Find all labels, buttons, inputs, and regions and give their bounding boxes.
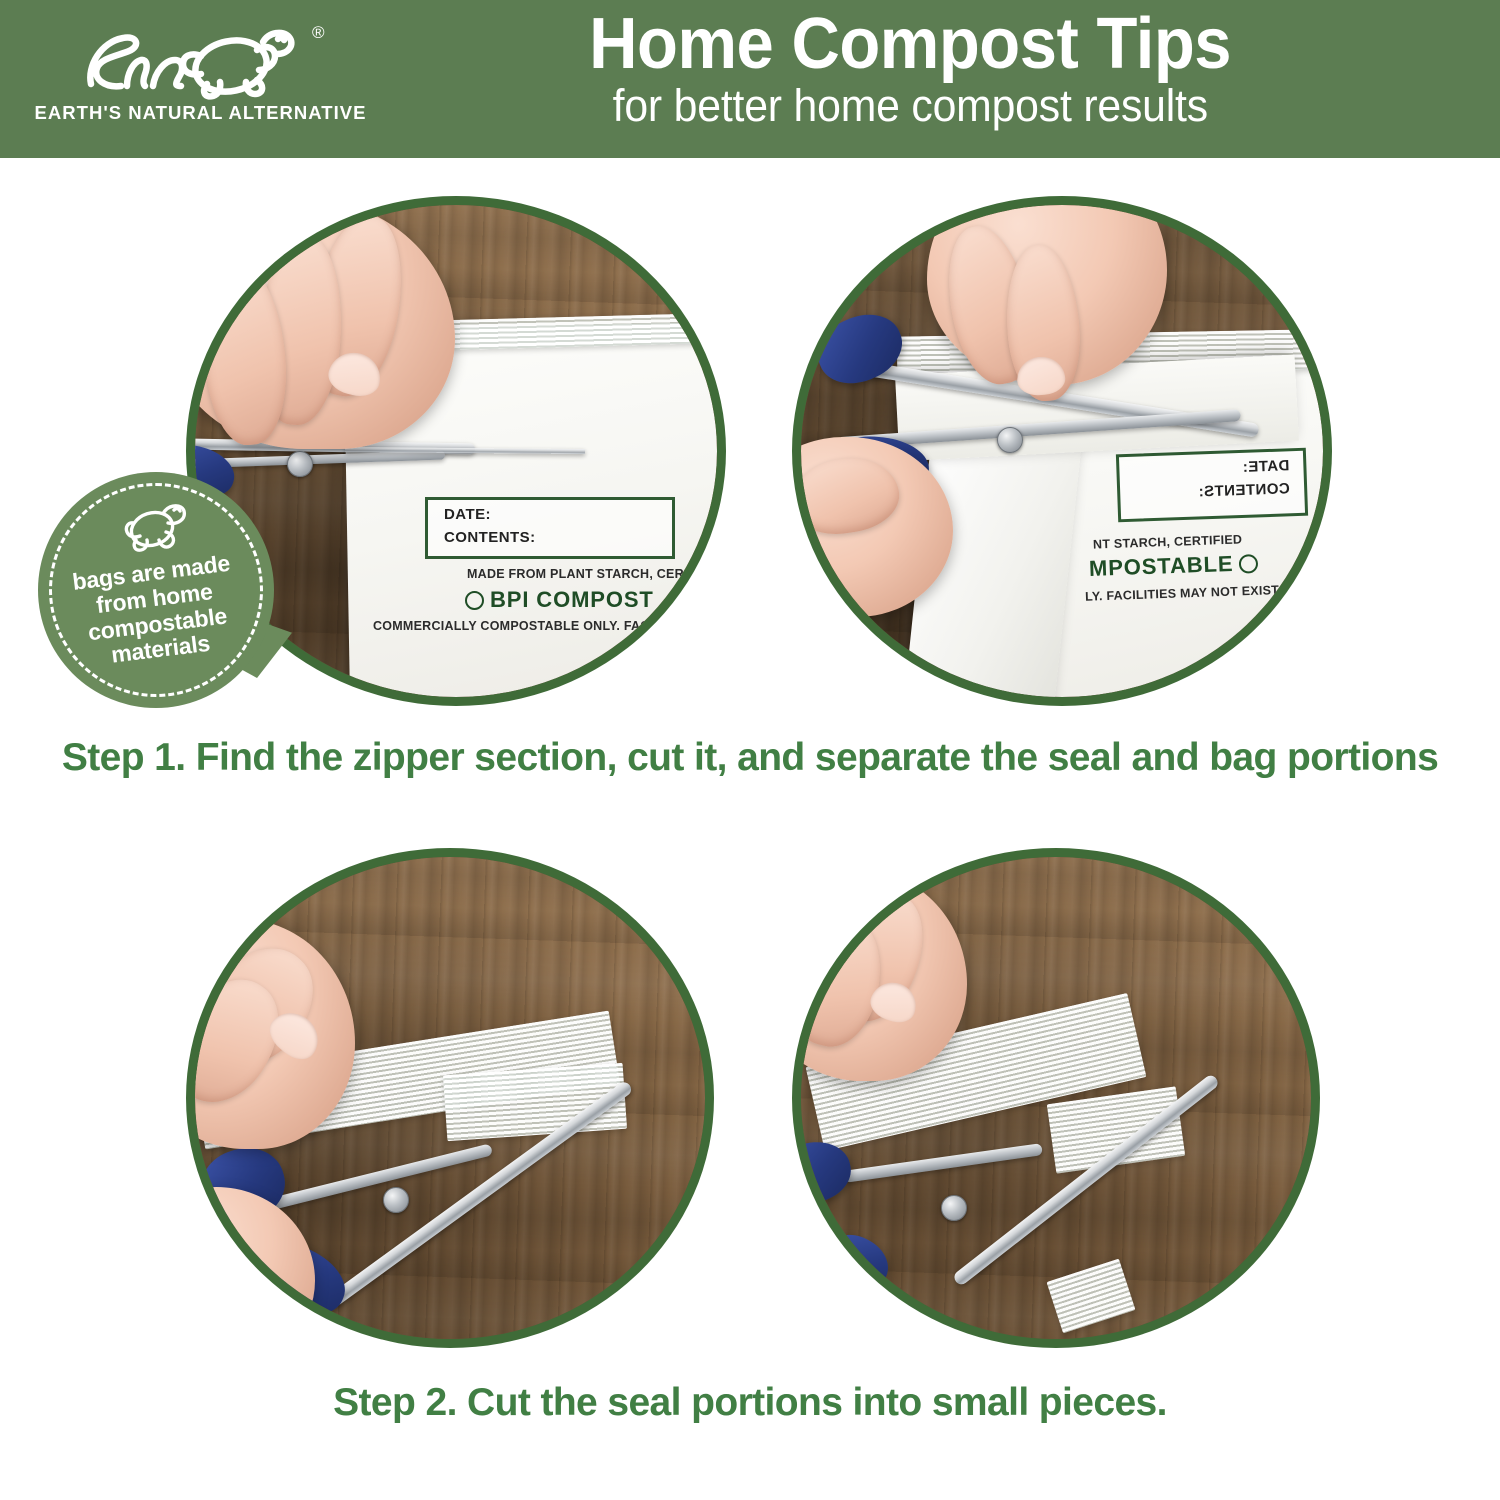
bag-contents-label: CONTENTS: <box>428 523 672 546</box>
bag-label-box-mirrored: DATE: CONTENTS: <box>1116 448 1308 523</box>
turtle-logo-icon: ® <box>71 22 331 100</box>
scissor-pivot-icon <box>287 451 313 477</box>
bpi-seal-icon <box>1239 554 1259 574</box>
photo-step2-left <box>186 848 714 1348</box>
photo-step2-right <box>792 848 1320 1348</box>
brand-logo: ® EARTH'S NATURAL ALTERNATIVE <box>58 22 343 134</box>
page-title: Home Compost Tips <box>589 8 1231 80</box>
bag-fine-print-text: COMMERCIALLY COMPOSTABLE ONLY. FACILITIE… <box>373 619 694 633</box>
bpi-seal-icon <box>465 591 484 610</box>
step-2-caption: Step 2. Cut the seal portions into small… <box>0 1381 1500 1425</box>
bag-label-box: DATE: CONTENTS: <box>425 497 675 559</box>
bag-made-from-text: MADE FROM PLANT STARCH, CER <box>467 567 684 581</box>
header-banner: ® EARTH'S NATURAL ALTERNATIVE Home Compo… <box>0 0 1500 158</box>
scissor-pivot-icon <box>383 1187 409 1213</box>
scissor-pivot-icon <box>997 427 1023 453</box>
step-1-caption: Step 1. Find the zipper section, cut it,… <box>0 736 1500 780</box>
photo-step1-right: DATE: CONTENTS: NT STARCH, CERTIFIED MPO… <box>792 196 1332 706</box>
home-compostable-badge: bags are made from home compostable mate… <box>38 472 274 708</box>
brand-tagline: EARTH'S NATURAL ALTERNATIVE <box>35 102 367 124</box>
page-subtitle: for better home compost results <box>612 82 1207 129</box>
header-title-block: Home Compost Tips for better home compos… <box>370 8 1450 129</box>
scissor-pivot-icon <box>941 1195 967 1221</box>
bag-bpi-text: BPI COMPOST <box>465 587 654 613</box>
registered-trademark-icon: ® <box>312 24 325 41</box>
infographic-page: ® EARTH'S NATURAL ALTERNATIVE Home Compo… <box>0 0 1500 1500</box>
bag-date-label: DATE: <box>428 500 672 523</box>
